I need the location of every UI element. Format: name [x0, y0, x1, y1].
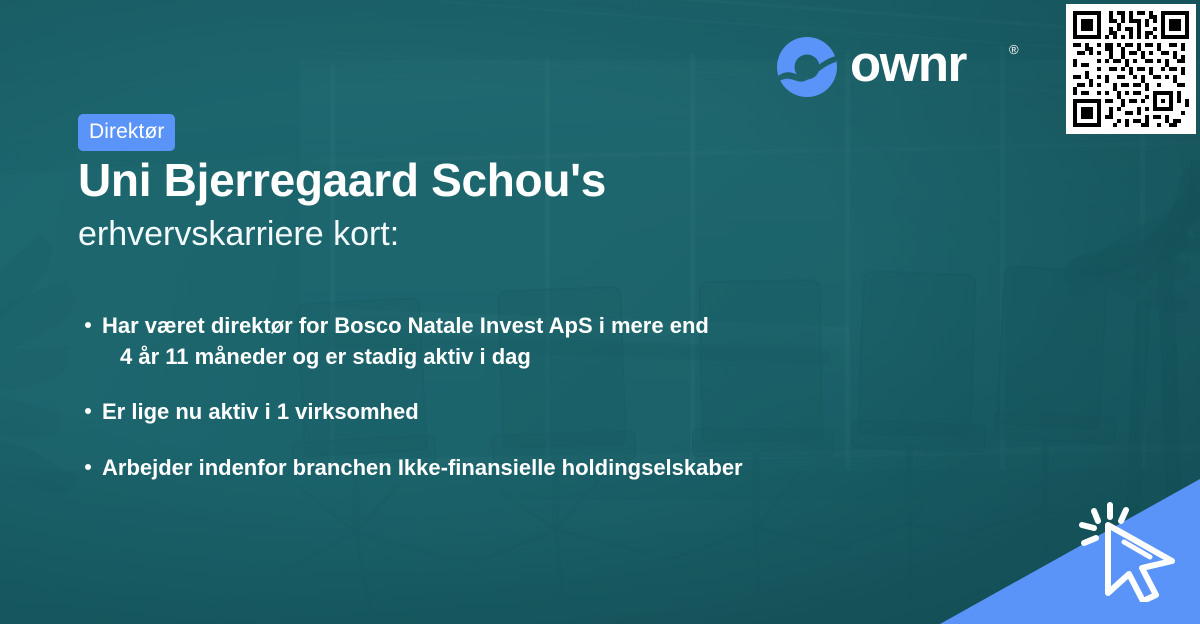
- ownr-circle-logo-icon: [776, 36, 838, 98]
- ownr-logo[interactable]: ownr ®: [776, 34, 1026, 102]
- page-subtitle: erhvervskarriere kort:: [78, 215, 978, 254]
- page-title: Uni Bjerregaard Schou's: [78, 156, 978, 206]
- role-badge: Direktør: [78, 114, 175, 151]
- qr-code-icon[interactable]: [1066, 4, 1196, 134]
- ownr-wordmark: ownr: [850, 38, 966, 89]
- list-item: Har været direktør for Bosco Natale Inve…: [80, 310, 1010, 372]
- career-facts-list: Har været direktør for Bosco Natale Inve…: [80, 310, 1010, 507]
- list-item-line1: Er lige nu aktiv i 1 virksomhed: [102, 399, 419, 424]
- list-item: Arbejder indenfor branchen Ikke-finansie…: [80, 452, 1010, 483]
- registered-trademark-icon: ®: [1009, 42, 1019, 57]
- list-item-line2: 4 år 11 måneder og er stadig aktiv i dag: [102, 341, 1010, 372]
- career-card: Direktør Uni Bjerregaard Schou's erhverv…: [0, 0, 1200, 624]
- list-item: Er lige nu aktiv i 1 virksomhed: [80, 396, 1010, 427]
- list-item-line1: Arbejder indenfor branchen Ikke-finansie…: [102, 455, 743, 480]
- list-item-line1: Har været direktør for Bosco Natale Inve…: [102, 313, 709, 338]
